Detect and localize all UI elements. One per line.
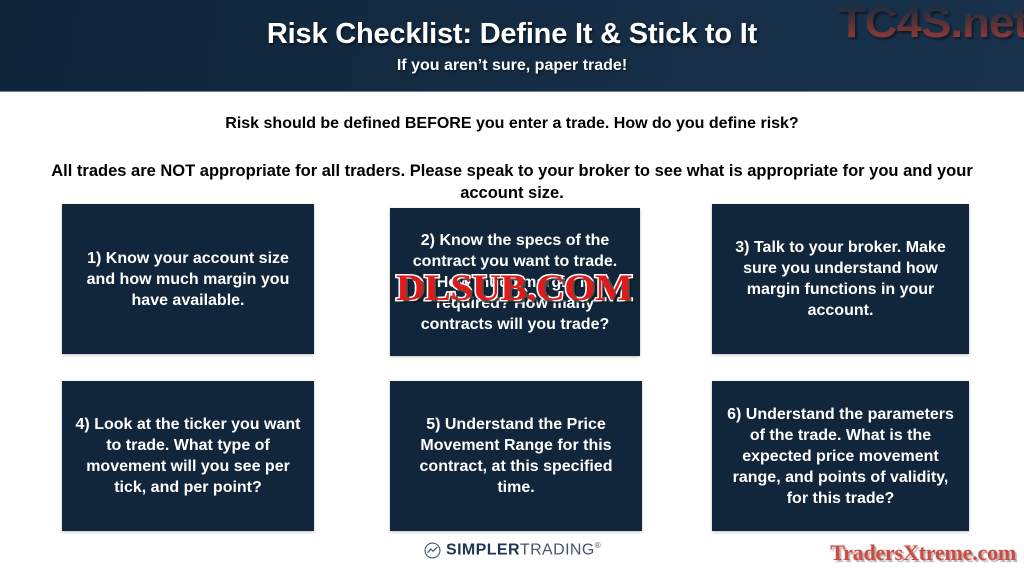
intro-line-2: All trades are NOT appropriate for all t… [30, 160, 994, 204]
registered-mark: ® [595, 541, 601, 550]
page-subtitle: If you aren’t sure, paper trade! [0, 57, 1024, 75]
checklist-item-6: 6) Understand the parameters of the trad… [712, 381, 969, 531]
checklist-item-2: 2) Know the specs of the contract you wa… [390, 208, 640, 356]
checklist-item-2-text: 2) Know the specs of the contract you wa… [402, 230, 628, 335]
checklist-item-6-text: 6) Understand the parameters of the trad… [724, 404, 957, 509]
checklist-item-1-text: 1) Know your account size and how much m… [74, 248, 302, 311]
brand-light: TRADING [520, 541, 595, 558]
brand-bold: SIMPLER [446, 541, 520, 558]
checklist-item-5-text: 5) Understand the Price Movement Range f… [402, 414, 630, 498]
simpler-trading-wordmark: SIMPLERTRADING® [446, 541, 601, 559]
checklist-item-3: 3) Talk to your broker. Make sure you un… [712, 204, 969, 354]
checklist-item-3-text: 3) Talk to your broker. Make sure you un… [724, 237, 957, 321]
slide: Risk Checklist: Define It & Stick to It … [0, 0, 1024, 576]
simpler-trading-logo: SIMPLERTRADING® [424, 541, 601, 559]
header-band: Risk Checklist: Define It & Stick to It … [0, 0, 1024, 92]
chart-circle-icon [424, 542, 441, 559]
page-title: Risk Checklist: Define It & Stick to It [0, 18, 1024, 51]
checklist-item-4-text: 4) Look at the ticker you want to trade.… [74, 414, 302, 498]
checklist-item-5: 5) Understand the Price Movement Range f… [390, 381, 642, 531]
checklist-item-1: 1) Know your account size and how much m… [62, 204, 314, 354]
intro-line-1: Risk should be defined BEFORE you enter … [0, 115, 1024, 133]
checklist-item-4: 4) Look at the ticker you want to trade.… [62, 381, 314, 531]
tradersxtreme-watermark: TradersXtreme.com [830, 540, 1016, 566]
